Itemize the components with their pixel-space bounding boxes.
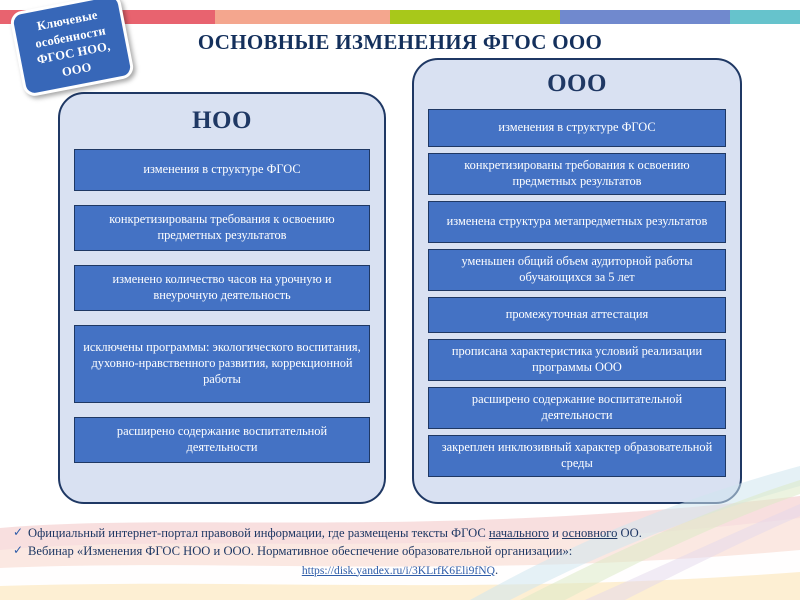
panel-noo-item: исключены программы: экологического восп… [74, 325, 370, 403]
footer-line-1: ✓ Официальный интернет-портал правовой и… [0, 524, 800, 542]
footer-url-suffix: . [495, 563, 498, 577]
check-icon: ✓ [8, 542, 28, 559]
panel-ooo-item: изменения в структуре ФГОС [428, 109, 726, 147]
panel-ooo-item-label: изменения в структуре ФГОС [498, 120, 655, 136]
panel-noo-item-label: изменено количество часов на урочную и в… [81, 272, 363, 304]
panel-noo-item: конкретизированы требования к освоению п… [74, 205, 370, 251]
stripe-salmon [215, 10, 390, 24]
link-osnovnogo[interactable]: основного [562, 526, 617, 540]
panel-noo-item-label: исключены программы: экологического восп… [81, 340, 363, 388]
panel-noo-item-label: изменения в структуре ФГОС [143, 162, 300, 178]
webinar-url-link[interactable]: https://disk.yandex.ru/i/3KLrfK6Eli9fNQ [302, 564, 495, 577]
panel-ooo-item: изменена структура метапредметных резуль… [428, 201, 726, 243]
footer-line-1-text: Официальный интернет-портал правовой инф… [28, 524, 642, 542]
panel-ooo-item: прописана характеристика условий реализа… [428, 339, 726, 381]
panel-noo-item: изменения в структуре ФГОС [74, 149, 370, 191]
panel-ooo-item-label: уменьшен общий объем аудиторной работы о… [435, 254, 719, 286]
panel-ooo-item: уменьшен общий объем аудиторной работы о… [428, 249, 726, 291]
footer-line-1-part2: ОО. [617, 526, 642, 540]
key-features-badge: Ключевые особенности ФГОС НОО, ООО [9, 0, 135, 98]
panel-noo-item: изменено количество часов на урочную и в… [74, 265, 370, 311]
panel-ooo-item-label: прописана характеристика условий реализа… [435, 344, 719, 376]
panel-ooo-item-label: конкретизированы требования к освоению п… [435, 158, 719, 190]
footer-line-1-mid: и [549, 526, 562, 540]
badge-body: Ключевые особенности ФГОС НОО, ООО [9, 0, 135, 98]
panel-noo-item-label: конкретизированы требования к освоению п… [81, 212, 363, 244]
footer-line-2-text: Вебинар «Изменения ФГОС НОО и ООО. Норма… [28, 542, 572, 560]
check-icon: ✓ [8, 524, 28, 541]
panel-ooo-item-label: промежуточная аттестация [506, 307, 649, 323]
footer-url-line: https://disk.yandex.ru/i/3KLrfK6Eli9fNQ. [0, 562, 800, 580]
panel-ooo-item-label: изменена структура метапредметных резуль… [447, 214, 708, 230]
stripe-blue [560, 10, 730, 24]
link-nachalnogo[interactable]: начального [489, 526, 549, 540]
panel-ooo-item: конкретизированы требования к освоению п… [428, 153, 726, 195]
footer-notes: ✓ Официальный интернет-портал правовой и… [0, 524, 800, 584]
stripe-teal [730, 10, 800, 24]
footer-line-1-part1: Официальный интернет-портал правовой инф… [28, 526, 489, 540]
panel-ooo-item: промежуточная аттестация [428, 297, 726, 333]
stripe-lime [390, 10, 560, 24]
footer-line-2: ✓ Вебинар «Изменения ФГОС НОО и ООО. Нор… [0, 542, 800, 560]
panel-ooo-title: ООО [414, 70, 740, 98]
panel-noo-title: НОО [60, 107, 384, 135]
slide-canvas: Ключевые особенности ФГОС НОО, ООО ОСНОВ… [0, 0, 800, 600]
